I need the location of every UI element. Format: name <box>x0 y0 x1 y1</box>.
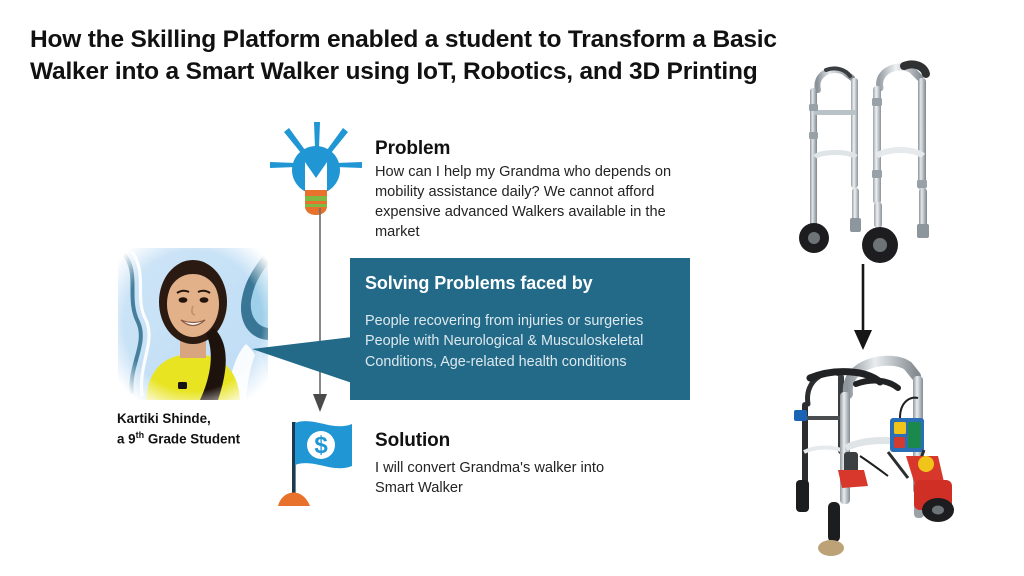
problem-to-solution-arrow <box>300 208 340 420</box>
transform-down-arrow <box>840 262 886 354</box>
student-grade-superscript: th <box>136 430 145 440</box>
page-title: How the Skilling Platform enabled a stud… <box>30 24 800 89</box>
lightbulb-icon <box>268 118 364 222</box>
student-portrait-photo <box>118 248 268 400</box>
flag-dollar-icon: $ <box>276 414 372 510</box>
student-grade-suffix: Grade Student <box>144 431 240 446</box>
slide-canvas: How the Skilling Platform enabled a stud… <box>0 0 1024 576</box>
basic-walker-image <box>760 52 970 267</box>
svg-text:$: $ <box>314 432 328 459</box>
callout-tail <box>252 337 352 383</box>
callout-body-text: People recovering from injuries or surge… <box>365 311 685 372</box>
problem-heading: Problem <box>375 138 450 160</box>
student-name: Kartiki Shinde, <box>117 411 211 426</box>
solution-body-text: I will convert Grandma's walker into Sma… <box>375 458 625 499</box>
solution-heading: Solution <box>375 430 450 452</box>
problem-body-text: How can I help my Grandma who depends on… <box>375 163 675 242</box>
student-grade-prefix: a 9 <box>117 431 136 446</box>
smart-walker-image <box>768 352 984 562</box>
callout-title: Solving Problems faced by <box>365 273 593 294</box>
